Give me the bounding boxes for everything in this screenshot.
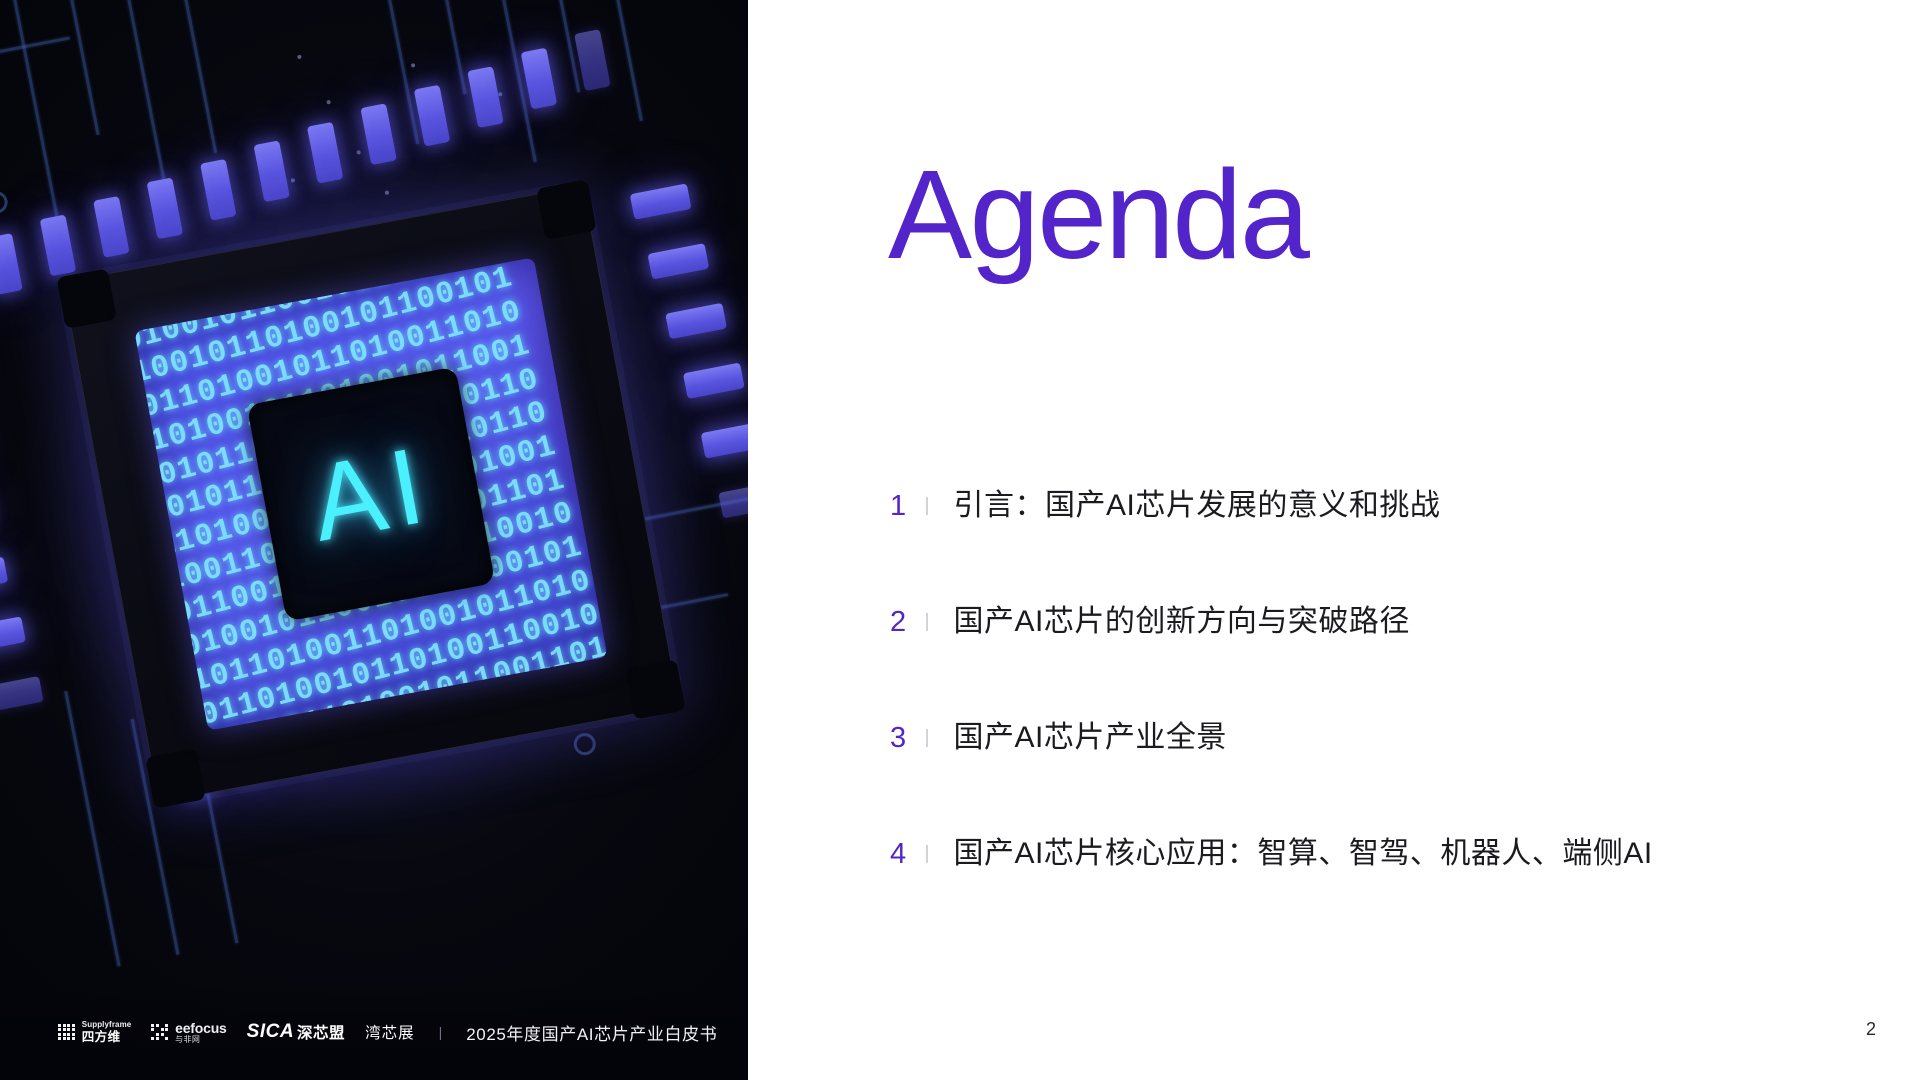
ai-chip-visual-panel: 10011010110010110100101 0110100101100101… <box>0 0 748 1080</box>
agenda-item-label: 国产AI芯片的创新方向与突破路径 <box>954 603 1410 641</box>
agenda-item-separator <box>926 497 928 515</box>
content-area: Agenda 1 引言：国产AI芯片发展的意义和挑战 2 国产AI芯片的创新方向… <box>748 0 1920 1080</box>
agenda-item-separator <box>926 613 928 631</box>
supplyframe-cn-label: 四方维 <box>82 1031 132 1044</box>
supplyframe-en-label: Supplyframe <box>82 1021 132 1029</box>
agenda-item-number: 4 <box>890 840 920 869</box>
supplyframe-grid-icon <box>58 1024 75 1041</box>
agenda-list: 1 引言：国产AI芯片发展的意义和挑战 2 国产AI芯片的创新方向与突破路径 3… <box>890 478 1860 882</box>
agenda-item-1[interactable]: 1 引言：国产AI芯片发展的意义和挑战 <box>890 478 1860 534</box>
chip-core: AI <box>247 367 495 621</box>
footer-divider: | <box>439 1024 443 1040</box>
chip-die-surface: 10011010110010110100101 0110100101100101… <box>134 257 607 730</box>
eefocus-cn-label: 与非网 <box>175 1036 227 1044</box>
agenda-item-3[interactable]: 3 国产AI芯片产业全景 <box>890 710 1860 766</box>
eefocus-logo[interactable]: eefocus 与非网 <box>151 1021 226 1044</box>
agenda-item-label: 国产AI芯片核心应用：智算、智驾、机器人、端侧AI <box>954 835 1653 873</box>
document-title-label: 2025年度国产AI芯片产业白皮书 <box>466 1020 717 1045</box>
page-number: 2 <box>1866 1019 1876 1040</box>
agenda-item-number: 1 <box>890 492 920 521</box>
wanxin-expo-label: 湾芯展 <box>365 1021 415 1043</box>
agenda-slide: 10011010110010110100101 0110100101100101… <box>0 0 1920 1080</box>
page-title: Agenda <box>888 152 1307 278</box>
ai-label: AI <box>303 430 439 558</box>
supplyframe-logo[interactable]: Supplyframe 四方维 <box>58 1021 131 1044</box>
sica-logo[interactable]: SICA 深芯盟 <box>247 1021 345 1043</box>
sica-en-label: SICA <box>247 1021 294 1043</box>
agenda-item-separator <box>926 729 928 747</box>
ai-chip-package: 10011010110010110100101 0110100101100101… <box>62 185 680 803</box>
footer-bar: Supplyframe 四方维 eefocus 与非网 SICA 深芯 <box>0 984 748 1080</box>
agenda-item-4[interactable]: 4 国产AI芯片核心应用：智算、智驾、机器人、端侧AI <box>890 826 1860 882</box>
eefocus-en-label: eefocus <box>175 1021 227 1035</box>
agenda-item-label: 引言：国产AI芯片发展的意义和挑战 <box>954 487 1441 525</box>
agenda-item-number: 2 <box>890 608 920 637</box>
agenda-item-label: 国产AI芯片产业全景 <box>954 719 1227 757</box>
agenda-item-separator <box>926 845 928 863</box>
sica-cn-label: 深芯盟 <box>297 1021 345 1043</box>
agenda-item-number: 3 <box>890 724 920 753</box>
eefocus-grid-icon <box>151 1024 168 1041</box>
agenda-item-2[interactable]: 2 国产AI芯片的创新方向与突破路径 <box>890 594 1860 650</box>
